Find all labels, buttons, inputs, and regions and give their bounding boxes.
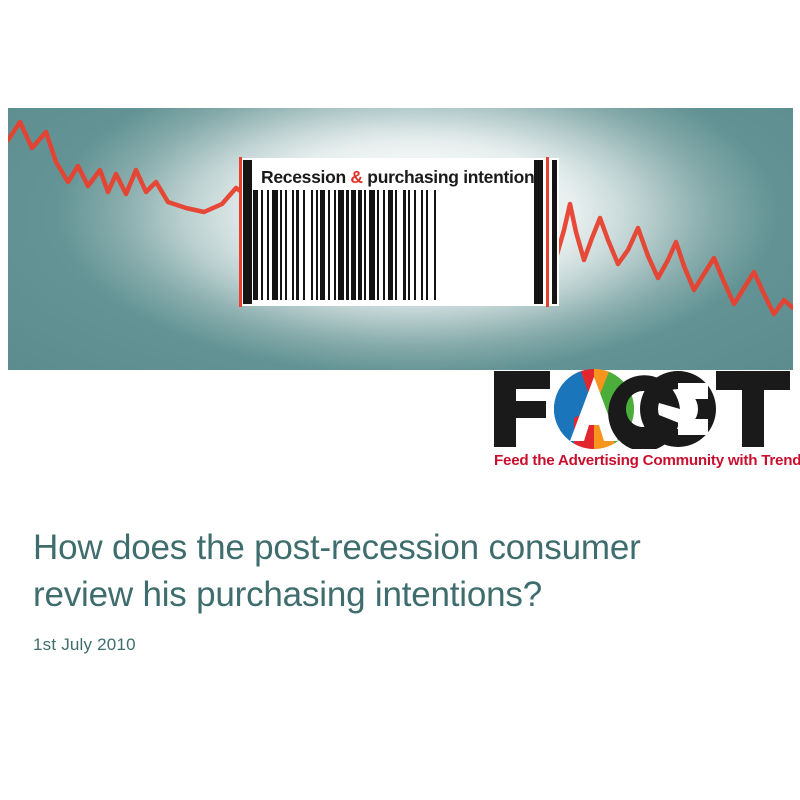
page-title-line-1: How does the post-recession consumer (33, 528, 641, 567)
barcode-left-guard-bar (243, 160, 252, 304)
barcode-bar (436, 190, 438, 300)
fact-tagline: Feed the Advertising Community with Tren… (494, 452, 792, 469)
page-title-line-2: review his purchasing intentions? (33, 575, 542, 614)
barcode-right-edge-bar (552, 160, 557, 304)
page-title: How does the post-recession consumer rev… (33, 524, 763, 618)
fact-logo: Feed the Advertising Community with Tren… (492, 367, 792, 479)
page-date: 1st July 2010 (33, 635, 763, 655)
barcode-title-suffix: purchasing intention (363, 167, 535, 187)
barcode-left-accent-line (239, 157, 242, 307)
barcode-title-prefix: Recession (261, 167, 350, 187)
title-block: How does the post-recession consumer rev… (33, 524, 763, 655)
barcode-title: Recession & purchasing intention (261, 164, 537, 190)
barcode-graphic: Recession & purchasing intention (239, 158, 559, 306)
fact-wordmark-icon (492, 367, 792, 449)
barcode-bars (253, 190, 545, 300)
barcode-right-accent-line (546, 157, 549, 307)
recession-banner: Recession & purchasing intention (8, 108, 793, 370)
barcode-title-ampersand: & (350, 167, 362, 187)
